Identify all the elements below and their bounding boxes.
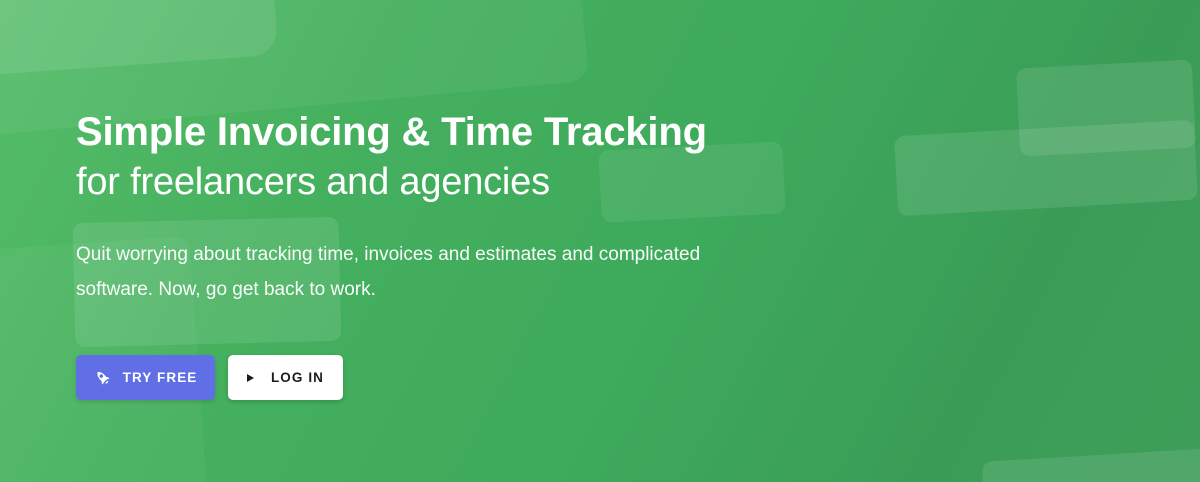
try-free-button[interactable]: TRY FREE — [76, 355, 215, 400]
decorative-shape-right-wide-bar — [894, 120, 1198, 217]
decorative-shape-top-right-card — [1016, 59, 1196, 156]
hero-content: Simple Invoicing & Time Tracking for fre… — [76, 0, 776, 482]
hero-action-buttons: TRY FREE LOG IN — [76, 355, 343, 400]
log-in-label: LOG IN — [271, 370, 324, 385]
hero-headline: Simple Invoicing & Time Tracking for fre… — [76, 112, 707, 201]
decorative-shape-bottom-right-slab — [982, 442, 1200, 482]
headline-line-1: Simple Invoicing & Time Tracking — [76, 112, 707, 152]
play-triangle-icon — [247, 374, 254, 382]
log-in-button[interactable]: LOG IN — [228, 355, 343, 400]
hero-banner: Simple Invoicing & Time Tracking for fre… — [0, 0, 1200, 482]
rocket-icon — [94, 369, 111, 386]
try-free-label: TRY FREE — [123, 370, 198, 385]
hero-subheadline: Quit worrying about tracking time, invoi… — [76, 237, 716, 307]
headline-line-2: for freelancers and agencies — [76, 163, 707, 201]
